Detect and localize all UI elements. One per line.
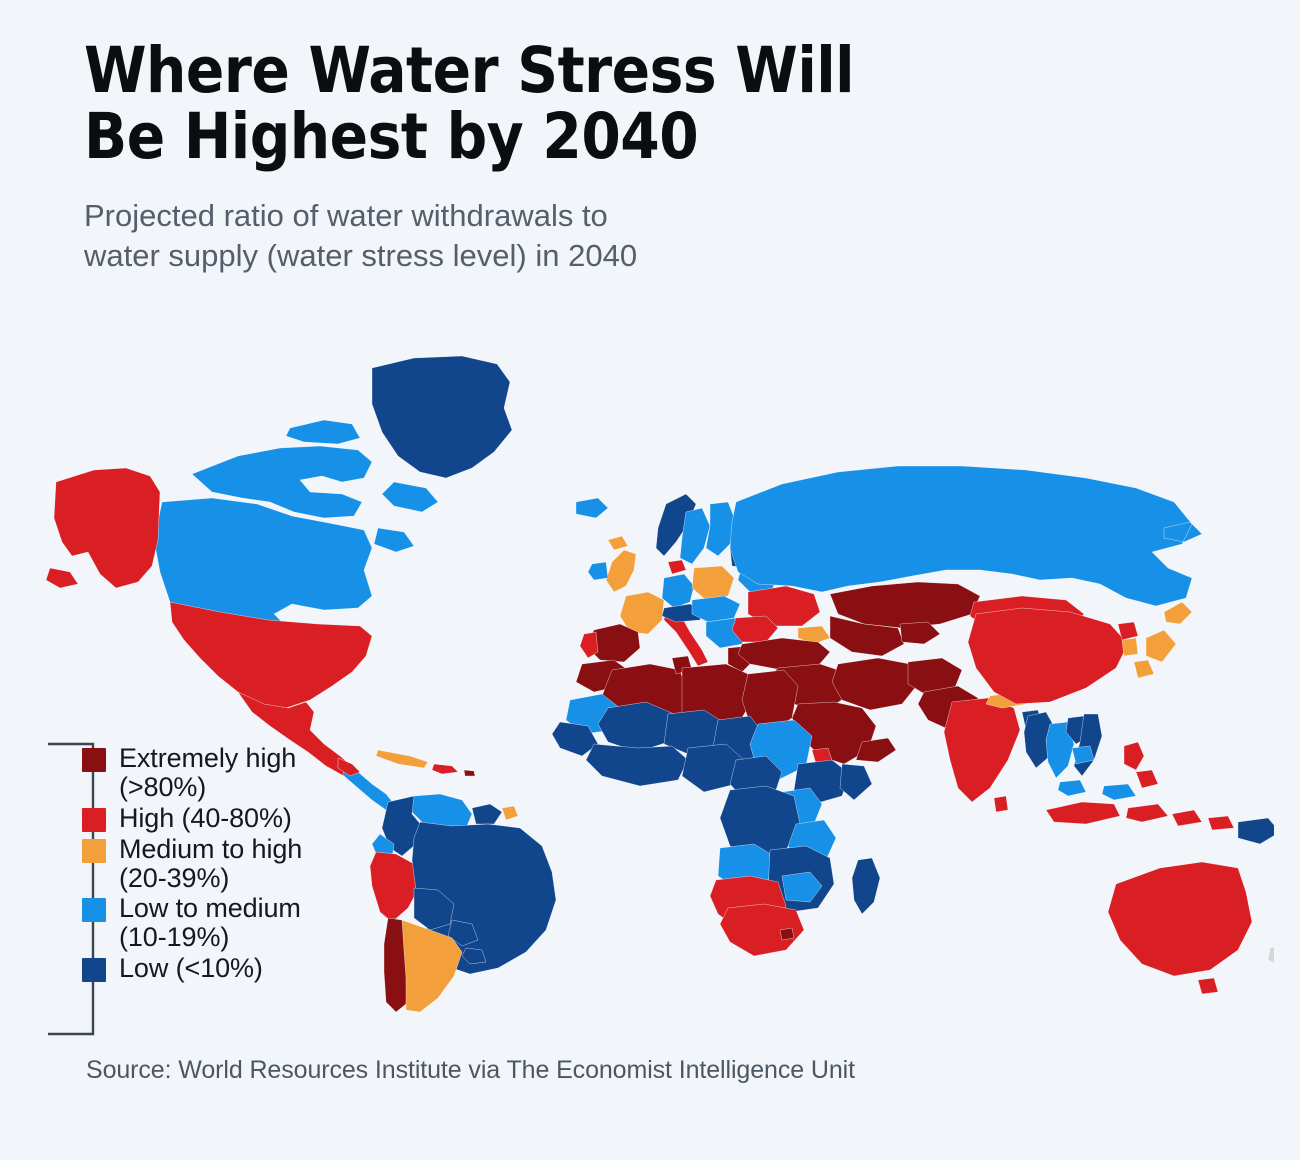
legend-item-high[interactable]: High (40-80%)	[82, 804, 412, 833]
region-malaysia	[1058, 780, 1136, 800]
legend-swatch-medium-to-high	[82, 839, 106, 863]
legend-item-low-to-medium[interactable]: Low to medium (10-19%)	[82, 894, 412, 952]
legend-label-low-to-medium: Low to medium (10-19%)	[119, 894, 301, 952]
region-iran	[832, 658, 918, 710]
region-indonesia	[1046, 802, 1234, 830]
legend-swatch-high	[82, 808, 106, 832]
region-new-zealand	[1268, 944, 1274, 996]
region-iceland	[576, 498, 608, 518]
region-hispaniola	[432, 764, 458, 774]
region-india	[944, 698, 1020, 802]
region-south-korea	[1122, 638, 1138, 656]
region-denmark	[668, 560, 686, 574]
region-australia	[1108, 862, 1252, 976]
page-subtitle: Projected ratio of water withdrawals to …	[84, 196, 1044, 275]
region-kyrgyz-tajik	[900, 622, 940, 644]
legend-items: Extremely high (>80%) High (40-80%) Medi…	[82, 744, 412, 985]
legend-swatch-low	[82, 958, 106, 982]
region-sri-lanka	[994, 796, 1008, 812]
region-philippines	[1124, 742, 1158, 788]
region-madagascar	[852, 858, 880, 914]
legend-label-extremely-high: Extremely high (>80%)	[119, 744, 296, 802]
region-west-africa-coast	[586, 744, 688, 786]
region-french-guiana	[502, 806, 518, 820]
legend-item-extremely-high[interactable]: Extremely high (>80%)	[82, 744, 412, 802]
region-mali	[598, 702, 674, 752]
source-note: Source: World Resources Institute via Th…	[86, 1056, 855, 1085]
region-greenland	[372, 356, 512, 478]
page-title: Where Water Stress Will Be Highest by 20…	[84, 38, 1044, 170]
region-poland	[692, 566, 734, 600]
region-lesotho	[780, 928, 794, 940]
region-puerto-rico	[464, 770, 475, 776]
region-ireland	[588, 562, 608, 580]
legend-label-low: Low (<10%)	[119, 954, 263, 983]
region-alaska	[46, 468, 160, 588]
legend-item-medium-to-high[interactable]: Medium to high (20-39%)	[82, 835, 412, 893]
region-china	[968, 608, 1128, 704]
region-germany	[662, 574, 694, 608]
region-japan	[1134, 602, 1192, 678]
legend-swatch-extremely-high	[82, 748, 106, 772]
region-somalia	[840, 764, 872, 800]
region-united-kingdom	[606, 536, 636, 592]
region-kazakhstan	[830, 582, 980, 628]
legend-item-low[interactable]: Low (<10%)	[82, 954, 412, 983]
region-russia	[730, 466, 1202, 606]
header: Where Water Stress Will Be Highest by 20…	[84, 38, 1044, 275]
legend-label-medium-to-high: Medium to high (20-39%)	[119, 835, 302, 893]
region-tasmania	[1198, 978, 1218, 994]
legend-label-high: High (40-80%)	[119, 804, 292, 833]
region-papua-new-guinea	[1238, 818, 1274, 844]
region-guyana-suriname	[472, 804, 502, 824]
legend-swatch-low-to-medium	[82, 898, 106, 922]
